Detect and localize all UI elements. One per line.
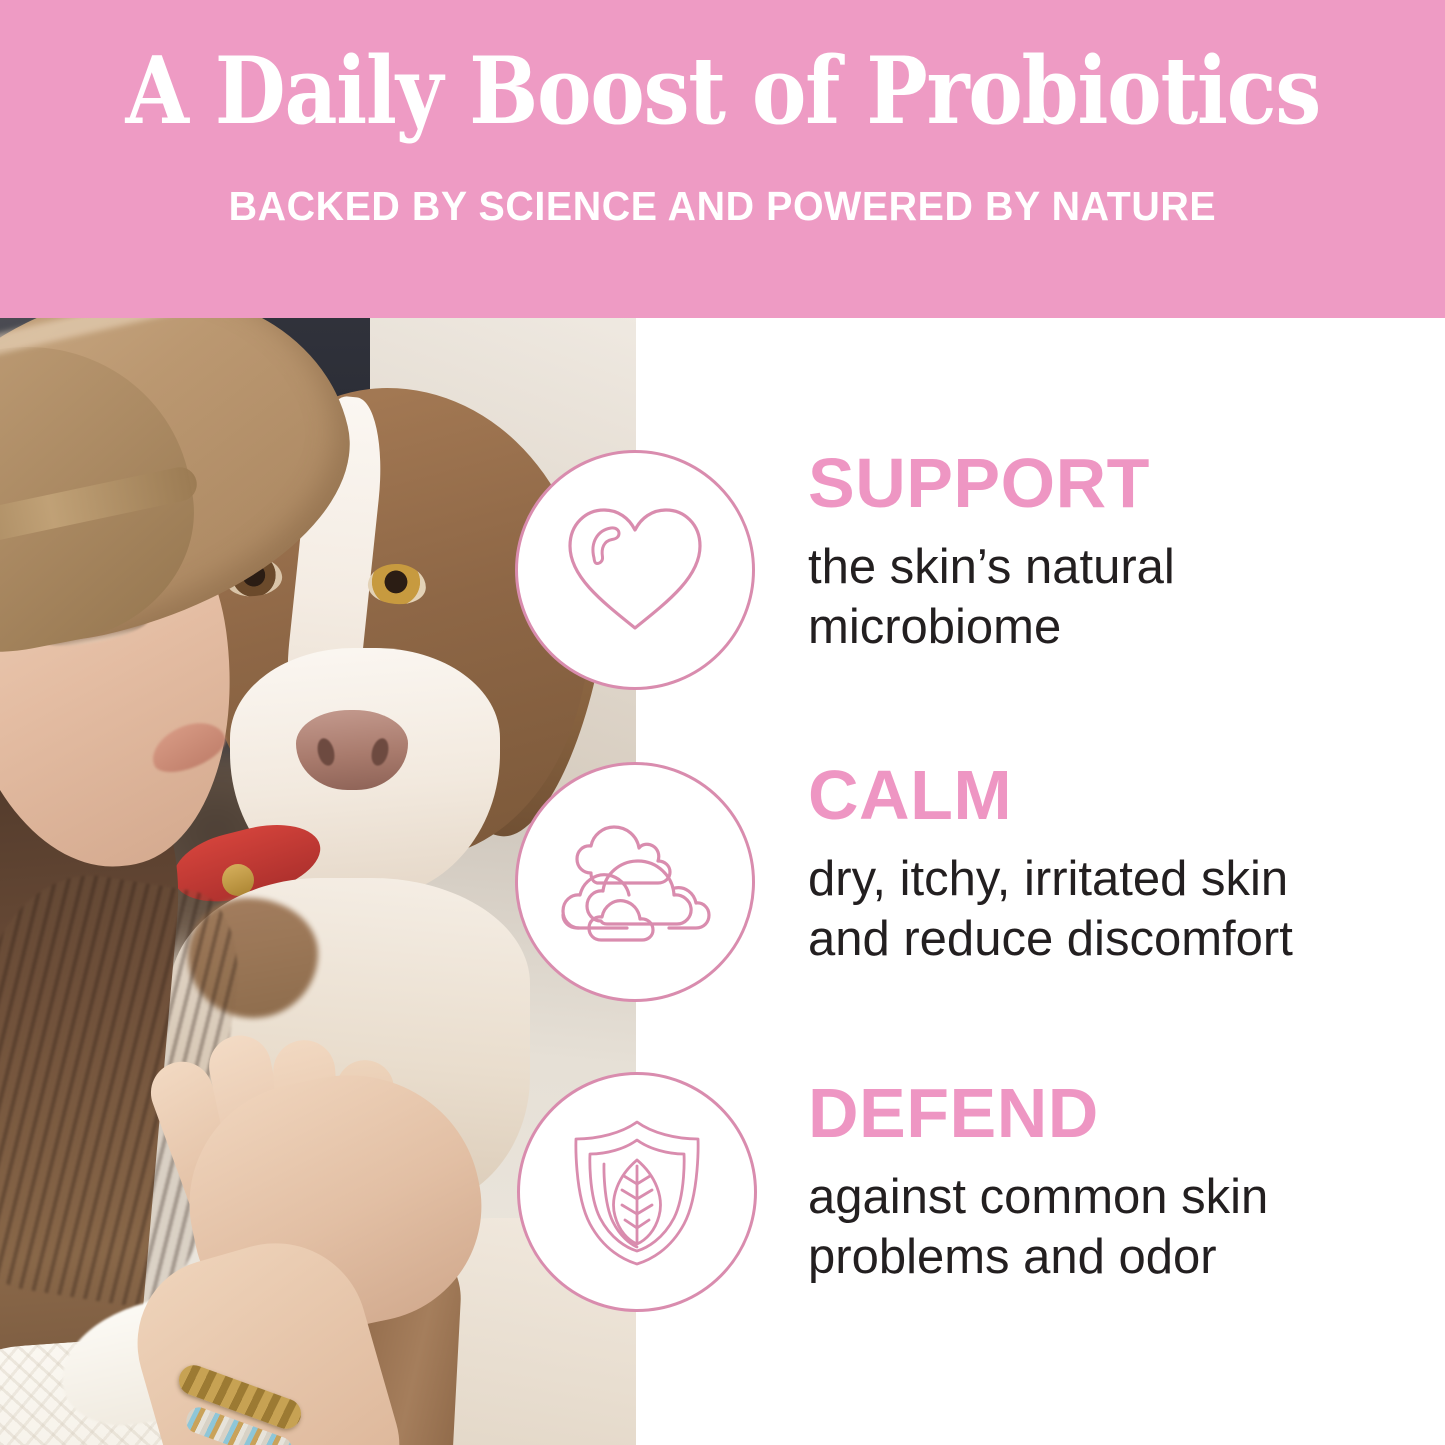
feature-text-calm: CALM dry, itchy, irritated skin and redu…	[808, 760, 1428, 970]
shield-leaf-icon	[562, 1114, 712, 1270]
feature-icon-circle-defend	[517, 1072, 757, 1312]
feature-icon-circle-support	[515, 450, 755, 690]
heart-icon	[560, 500, 710, 640]
header-banner: A Daily Boost of Probiotics BACKED BY SC…	[0, 0, 1445, 318]
feature-body-line: and reduce discomfort	[808, 910, 1428, 970]
feature-body-calm: dry, itchy, irritated skin and reduce di…	[808, 850, 1428, 970]
feature-body-line: the skin’s natural	[808, 538, 1428, 598]
feature-body-line: dry, itchy, irritated skin	[808, 850, 1428, 910]
page-subtitle: BACKED BY SCIENCE AND POWERED BY NATURE	[229, 183, 1217, 230]
feature-heading-calm: CALM	[808, 760, 1428, 830]
feature-body-line: problems and odor	[808, 1228, 1428, 1288]
feature-icon-circle-calm	[515, 762, 755, 1002]
feature-heading-defend: DEFEND	[808, 1078, 1428, 1148]
page-title: A Daily Boost of Probiotics	[125, 44, 1320, 137]
product-marketing-image: A Daily Boost of Probiotics BACKED BY SC…	[0, 0, 1445, 1445]
feature-body-line: microbiome	[808, 598, 1428, 658]
feature-body-defend: against common skin problems and odor	[808, 1168, 1428, 1288]
clouds-icon	[557, 816, 713, 948]
feature-body-support: the skin’s natural microbiome	[808, 538, 1428, 658]
feature-heading-support: SUPPORT	[808, 448, 1428, 518]
feature-body-line: against common skin	[808, 1168, 1428, 1228]
feature-text-defend: DEFEND against common skin problems and …	[808, 1078, 1428, 1288]
feature-text-support: SUPPORT the skin’s natural microbiome	[808, 448, 1428, 658]
